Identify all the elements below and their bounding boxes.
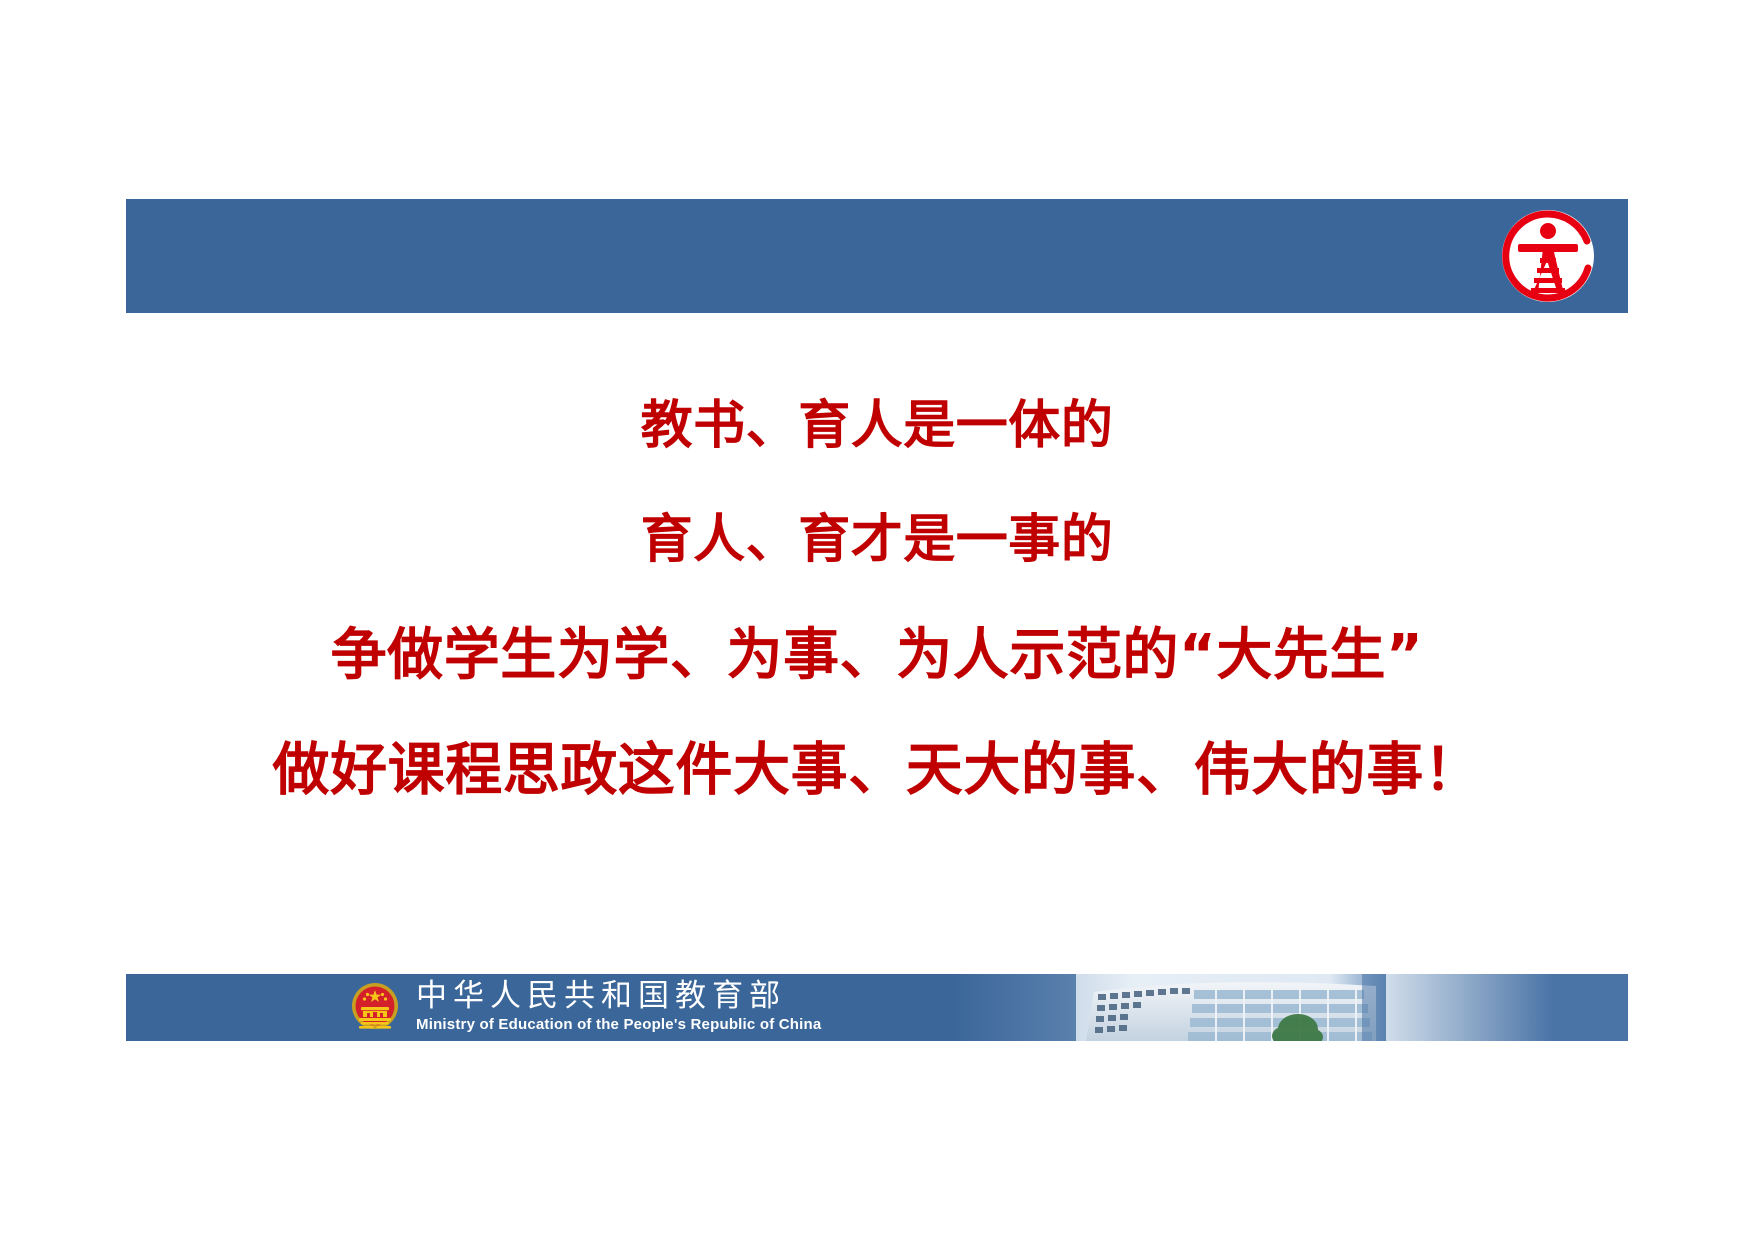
header-bar [126,199,1628,313]
footer-org-name-cn: 中华人民共和国教育部 [416,977,1036,1015]
slide-body-text: 教书、育人是一体的 育人、育才是一事的 争做学生为学、为事、为人示范的“大先生”… [126,400,1628,799]
slide-line-4: 做好课程思政这件大事、天大的事、伟大的事！ [126,742,1628,799]
slide-line-1: 教书、育人是一体的 [126,400,1628,452]
slide-line-2: 育人、育才是一事的 [126,514,1628,566]
ministry-building-photo [1076,974,1386,1041]
tianjin-university-emblem-icon [1496,204,1600,308]
national-emblem-of-china-icon [348,980,402,1034]
slide-line-3: 争做学生为学、为事、为人示范的“大先生” [126,628,1628,684]
footer-bar: 中华人民共和国教育部 Ministry of Education of the … [126,974,1628,1041]
footer-org-text: 中华人民共和国教育部 Ministry of Education of the … [416,977,1036,1035]
footer-org-name-en: Ministry of Education of the People's Re… [416,1015,1036,1035]
slide-canvas: 教书、育人是一体的 育人、育才是一事的 争做学生为学、为事、为人示范的“大先生”… [0,0,1755,1241]
